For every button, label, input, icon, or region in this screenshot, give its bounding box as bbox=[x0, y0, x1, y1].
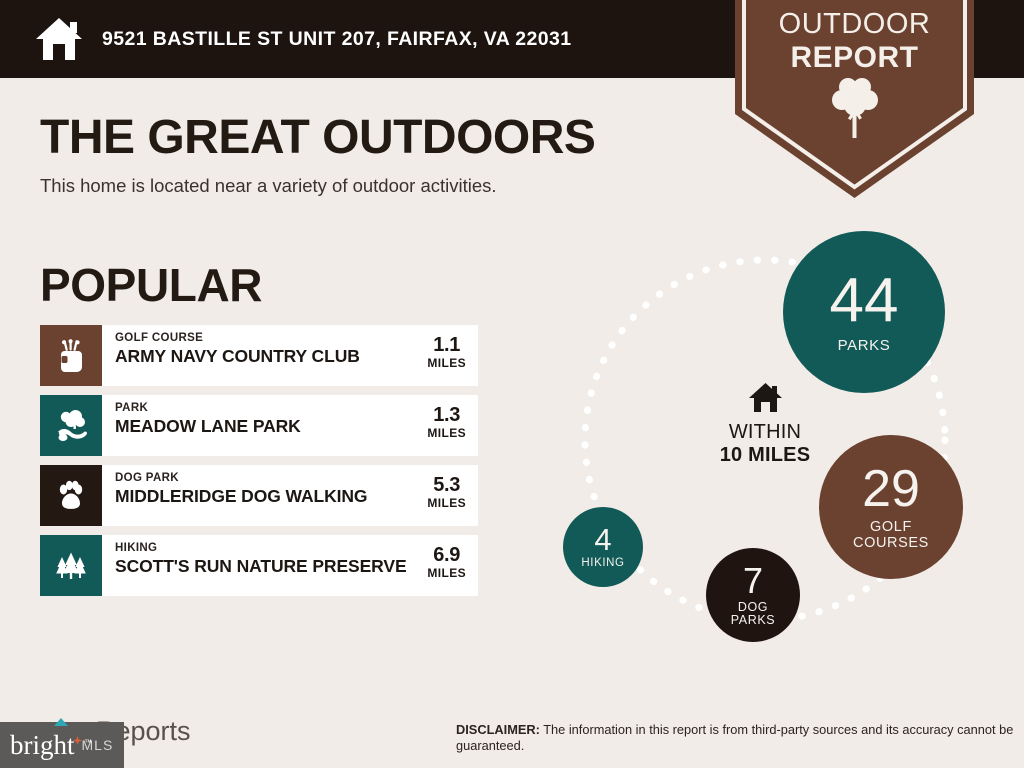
stat-bubble-parks[interactable]: 44 PARKS bbox=[783, 231, 945, 393]
list-item-category: HIKING bbox=[115, 542, 423, 555]
popular-list: GOLF COURSE ARMY NAVY COUNTRY CLUB 1.1 M… bbox=[40, 325, 478, 605]
list-item-distance: 1.3 MILES bbox=[423, 395, 478, 456]
list-item-name: ARMY NAVY COUNTRY CLUB bbox=[115, 345, 423, 367]
list-item-category: PARK bbox=[115, 402, 423, 415]
page-title: THE GREAT OUTDOORS bbox=[40, 110, 595, 165]
logo-wordmark-text: bright bbox=[10, 730, 75, 760]
list-item-category: DOG PARK bbox=[115, 472, 423, 485]
home-icon bbox=[34, 16, 84, 62]
list-item[interactable]: HIKING SCOTT'S RUN NATURE PRESERVE 6.9 M… bbox=[40, 535, 478, 596]
list-item-name: SCOTT'S RUN NATURE PRESERVE bbox=[115, 555, 423, 577]
list-item-distance: 1.1 MILES bbox=[423, 325, 478, 386]
golf-bag-icon bbox=[54, 339, 88, 373]
property-address: 9521 BASTILLE ST UNIT 207, FAIRFAX, VA 2… bbox=[102, 28, 572, 51]
distance-unit: MILES bbox=[427, 426, 466, 440]
list-item-icon-box bbox=[40, 395, 102, 456]
stat-bubble-dog-parks[interactable]: 7 DOG PARKS bbox=[706, 548, 800, 642]
logo-trademark: ™ bbox=[84, 728, 92, 758]
center-line2: 10 MILES bbox=[675, 444, 855, 467]
logo-triangle-icon bbox=[54, 718, 68, 726]
center-line1: WITHIN bbox=[675, 421, 855, 444]
badge-title: OUTDOOR REPORT bbox=[735, 8, 974, 74]
list-item-name: MEADOW LANE PARK bbox=[115, 415, 423, 437]
distance-value: 6.9 bbox=[427, 545, 466, 566]
bright-mls-logo: bright ™ MLS bbox=[0, 722, 124, 768]
list-item[interactable]: DOG PARK MIDDLERIDGE DOG WALKING 5.3 MIL… bbox=[40, 465, 478, 526]
list-item[interactable]: GOLF COURSE ARMY NAVY COUNTRY CLUB 1.1 M… bbox=[40, 325, 478, 386]
pine-trees-icon bbox=[54, 549, 88, 583]
stat-label-line2: COURSES bbox=[853, 536, 929, 551]
disclaimer-label: DISCLAIMER: bbox=[456, 722, 540, 737]
home-icon bbox=[748, 382, 783, 413]
disclaimer: DISCLAIMER: The information in this repo… bbox=[456, 722, 1016, 753]
diagram-center: WITHIN 10 MILES bbox=[675, 382, 855, 467]
badge-title-line1: OUTDOOR bbox=[735, 8, 974, 41]
list-item-name: MIDDLERIDGE DOG WALKING bbox=[115, 485, 423, 507]
distance-value: 1.1 bbox=[427, 335, 466, 356]
disclaimer-text: The information in this report is from t… bbox=[456, 722, 1013, 753]
list-item-body: DOG PARK MIDDLERIDGE DOG WALKING bbox=[102, 465, 423, 526]
distance-unit: MILES bbox=[427, 496, 466, 510]
list-item-distance: 6.9 MILES bbox=[423, 535, 478, 596]
stat-label: DOG PARKS bbox=[731, 601, 775, 627]
within-10-miles-diagram: 44 PARKS 29 GOLF COURSES 7 DOG PARKS 4 H… bbox=[515, 215, 1015, 675]
stat-count: 4 bbox=[594, 524, 611, 555]
stat-label: HIKING bbox=[581, 557, 624, 569]
stat-label: GOLF COURSES bbox=[853, 520, 929, 550]
list-item-icon-box bbox=[40, 535, 102, 596]
list-item-body: PARK MEADOW LANE PARK bbox=[102, 395, 423, 456]
distance-unit: MILES bbox=[427, 566, 466, 580]
stat-label-line2: PARKS bbox=[731, 614, 775, 627]
stat-count: 7 bbox=[743, 563, 763, 599]
list-item-icon-box bbox=[40, 325, 102, 386]
list-item-icon-box bbox=[40, 465, 102, 526]
park-tree-icon bbox=[54, 409, 88, 443]
outdoor-report-page: 9521 BASTILLE ST UNIT 207, FAIRFAX, VA 2… bbox=[0, 0, 1024, 768]
stat-count: 44 bbox=[830, 270, 899, 332]
list-item[interactable]: PARK MEADOW LANE PARK 1.3 MILES bbox=[40, 395, 478, 456]
list-item-category: GOLF COURSE bbox=[115, 332, 423, 345]
paw-print-icon bbox=[54, 479, 88, 513]
logo-wordmark: bright ™ bbox=[10, 730, 75, 760]
stat-bubble-hiking[interactable]: 4 HIKING bbox=[563, 507, 643, 587]
distance-value: 1.3 bbox=[427, 405, 466, 426]
tree-icon bbox=[827, 78, 883, 140]
badge-title-line2: REPORT bbox=[735, 41, 974, 74]
distance-unit: MILES bbox=[427, 356, 466, 370]
stat-label: PARKS bbox=[838, 338, 891, 354]
page-subtitle: This home is located near a variety of o… bbox=[40, 175, 497, 197]
stat-label-line1: GOLF bbox=[853, 520, 929, 535]
list-item-body: GOLF COURSE ARMY NAVY COUNTRY CLUB bbox=[102, 325, 423, 386]
section-title-popular: POPULAR bbox=[40, 258, 262, 312]
list-item-body: HIKING SCOTT'S RUN NATURE PRESERVE bbox=[102, 535, 423, 596]
list-item-distance: 5.3 MILES bbox=[423, 465, 478, 526]
distance-value: 5.3 bbox=[427, 475, 466, 496]
stat-count: 29 bbox=[862, 463, 920, 515]
outdoor-report-badge: OUTDOOR REPORT bbox=[735, 0, 974, 202]
